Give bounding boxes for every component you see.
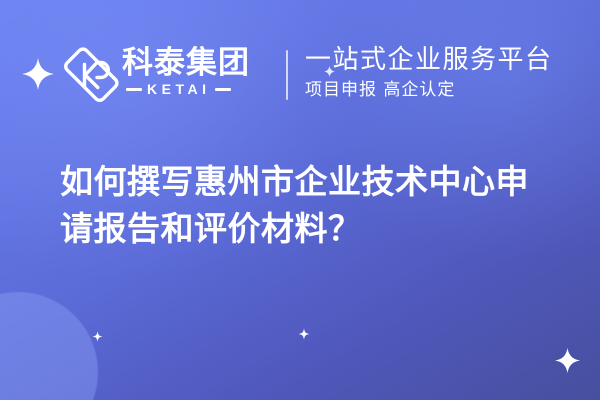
tagline-block: 一站式企业服务平台 项目申报 高企认定	[305, 44, 595, 102]
logo-rule-right	[215, 88, 231, 91]
sparkle-icon-tagline	[324, 66, 335, 77]
decorative-circle	[0, 292, 98, 400]
logo-rule-left	[126, 88, 142, 91]
sparkle-icon	[22, 58, 54, 90]
promo-banner: 科泰集团 KETAI 一站式企业服务平台 项目申报 高企认定 如何撰写惠州市企业…	[0, 0, 600, 400]
logo-english-row: KETAI	[122, 82, 272, 96]
tagline-main: 一站式企业服务平台	[305, 44, 595, 76]
diamond-sparkle-left	[92, 331, 103, 342]
logo-wordmark: 科泰集团 KETAI	[122, 46, 272, 104]
diamond-sparkle-mid	[298, 328, 310, 340]
sparkle-icon-bottom-right	[555, 348, 580, 373]
logo-english-name: KETAI	[147, 82, 210, 96]
header-divider	[286, 50, 288, 100]
ketai-diamond-monogram-icon	[62, 46, 120, 104]
logo-chinese-name: 科泰集团	[122, 46, 272, 80]
page-title: 如何撰写惠州市企业技术中心申请报告和评价材料？	[60, 158, 560, 252]
tagline-sub: 项目申报 高企认定	[305, 78, 595, 102]
